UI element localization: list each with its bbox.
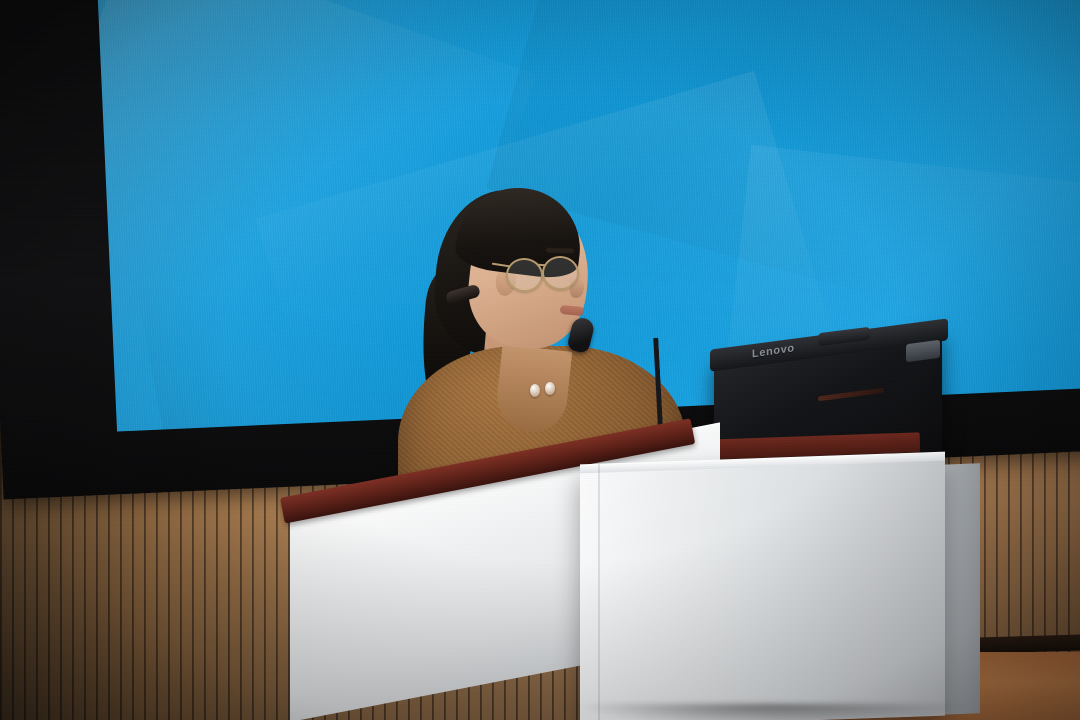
pearl-button (545, 382, 555, 395)
glasses-bridge (537, 264, 546, 266)
lectern-panel-seam (598, 464, 600, 720)
eyebrow (546, 248, 574, 254)
photo-scene: 研生寝室长责任书 Lenovo (0, 0, 1080, 720)
lectern-side-panel (940, 463, 980, 714)
pearl-button (530, 384, 540, 397)
lectern-shadow (570, 704, 970, 720)
lectern-front-panel (580, 456, 945, 720)
lectern (280, 452, 1050, 720)
